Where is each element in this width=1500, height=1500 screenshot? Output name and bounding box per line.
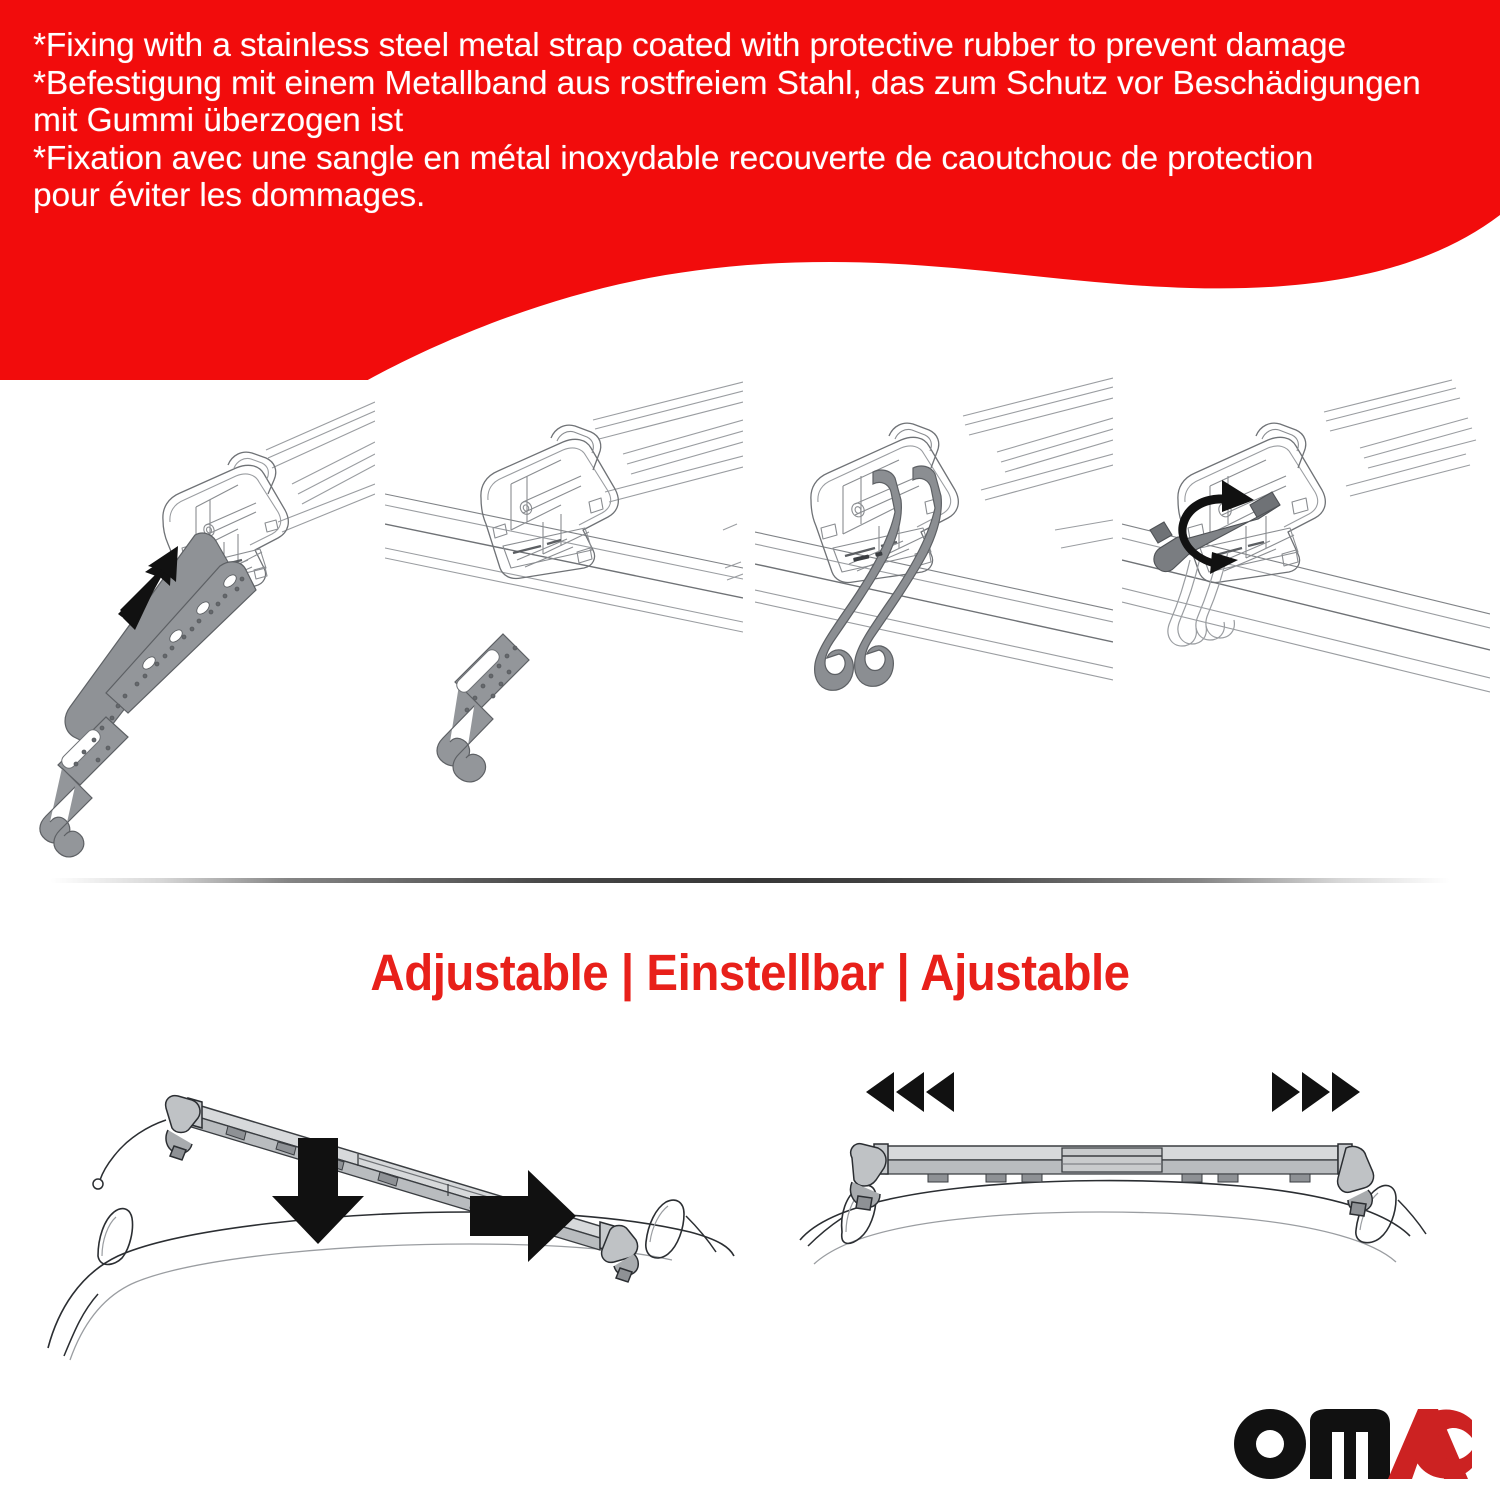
diagram-tighten-allen-key bbox=[1122, 372, 1490, 872]
step-panel-insert-strap bbox=[10, 372, 375, 872]
lower-panel-crossbar-adjust-height bbox=[40, 1060, 760, 1390]
triple-left-arrow-icon bbox=[866, 1072, 954, 1112]
red-banner: *Fixing with a stainless steel metal str… bbox=[0, 0, 1500, 380]
lower-panel-crossbar-adjust-width bbox=[790, 1060, 1440, 1390]
step-panel-strap-wrapped bbox=[755, 372, 1113, 872]
step-panel-tighten-allen-key bbox=[1122, 372, 1490, 872]
diagram-foot-on-rail bbox=[385, 372, 743, 872]
step-panel-foot-on-rail bbox=[385, 372, 743, 872]
metal-strap bbox=[437, 634, 529, 782]
infographic-page: *Fixing with a stainless steel metal str… bbox=[0, 0, 1500, 1500]
diagram-strap-wrapped bbox=[755, 372, 1113, 872]
omac-logo-mark bbox=[1232, 1398, 1480, 1480]
adjustable-heading: Adjustable | Einstellbar | Ajustable bbox=[53, 943, 1448, 1002]
diagram-crossbar-height-adjust bbox=[40, 1060, 760, 1390]
crossbar-tilted bbox=[93, 1096, 638, 1282]
installation-steps-row bbox=[0, 372, 1500, 872]
adjustability-diagrams-row bbox=[0, 1060, 1500, 1390]
triple-right-arrow-icon bbox=[1272, 1072, 1360, 1112]
right-arrow-icon bbox=[470, 1170, 576, 1262]
section-divider bbox=[50, 878, 1450, 883]
omac-logo bbox=[1232, 1398, 1480, 1480]
banner-text: *Fixing with a stainless steel metal str… bbox=[33, 27, 1483, 215]
diagram-crossbar-width-adjust bbox=[790, 1060, 1440, 1390]
diagram-insert-strap bbox=[10, 372, 375, 872]
